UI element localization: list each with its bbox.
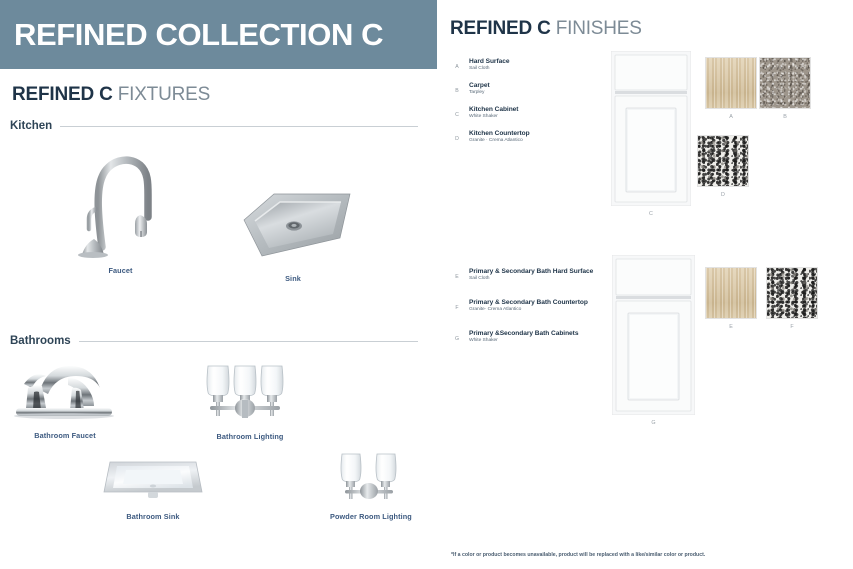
- swatch-bath-countertop: F: [766, 267, 818, 319]
- section-rule: [79, 341, 418, 342]
- fixture-caption: Bathroom Faucet: [10, 431, 120, 440]
- legend-sub: Tarpley: [469, 90, 484, 95]
- swatch-tile-wood: [705, 57, 757, 109]
- finishes-heading-bold: REFINED C: [450, 18, 551, 39]
- swatch-hard-surface: A: [705, 57, 757, 109]
- bathroom-lighting-icon: [190, 362, 310, 424]
- legend-name: Carpet: [469, 82, 490, 89]
- legend-row: D Kitchen Countertop Granite · Crema Atl…: [452, 130, 602, 148]
- powder-room-lighting-icon: [330, 452, 408, 504]
- disclaimer-note: *If a color or product becomes unavailab…: [451, 552, 705, 558]
- swatch-label: E: [705, 324, 757, 330]
- fixture-sink: Sink: [228, 186, 358, 283]
- fixtures-heading-bold: REFINED C: [12, 84, 113, 105]
- swatch-carpet: B: [759, 57, 811, 109]
- swatch-label: B: [759, 114, 811, 120]
- finishes-heading: REFINED C FINISHES: [450, 18, 642, 40]
- swatch-label: F: [766, 324, 818, 330]
- swatch-label: A: [705, 114, 757, 120]
- legend-sub: Sail Cloth: [469, 276, 489, 281]
- legend-name: Kitchen Cabinet: [469, 106, 518, 113]
- legend-name: Primary &Secondary Bath Cabinets: [469, 330, 578, 337]
- section-label-bathrooms: Bathrooms: [10, 335, 71, 347]
- fixture-bathroom-lighting: Bathroom Lighting: [190, 362, 310, 441]
- fixture-caption: Bathroom Lighting: [190, 432, 310, 441]
- legend-row: G Primary &Secondary Bath Cabinets White…: [452, 330, 617, 348]
- kitchen-faucet-icon: [78, 143, 163, 258]
- cabinet-door-icon: [612, 255, 695, 415]
- fixture-faucet: Faucet: [78, 143, 163, 275]
- swatch-tile-granite: [697, 135, 749, 187]
- collection-board: REFINED COLLECTION C REFINED C FIXTURES …: [0, 0, 853, 569]
- swatch-kitchen-cabinet: C: [611, 51, 691, 206]
- swatch-tile-carpet: [759, 57, 811, 109]
- legend-name: Hard Surface: [469, 58, 509, 65]
- legend-key: E: [452, 274, 462, 280]
- section-label-kitchen: Kitchen: [10, 120, 52, 132]
- legend-key: F: [452, 305, 462, 311]
- fixtures-heading-gray: FIXTURES: [118, 84, 210, 105]
- fixture-bathroom-sink: Bathroom Sink: [98, 452, 208, 521]
- legend-sub: Sail Cloth: [469, 66, 489, 71]
- legend-row: E Primary & Secondary Bath Hard Surface …: [452, 268, 617, 286]
- legend-row: B Carpet Tarpley: [452, 82, 602, 100]
- fixture-powder-room-lighting: Powder Room Lighting: [330, 452, 408, 521]
- legend-key: G: [452, 336, 462, 342]
- legend-row: F Primary & Secondary Bath Countertop Gr…: [452, 299, 617, 317]
- bathroom-sink-icon: [98, 452, 208, 504]
- swatch-bath-hard-surface: E: [705, 267, 757, 319]
- finishes-legend-bath: E Primary & Secondary Bath Hard Surface …: [452, 268, 617, 354]
- legend-sub: White Shaker: [469, 338, 498, 343]
- finishes-heading-gray: FINISHES: [556, 18, 642, 39]
- legend-row: A Hard Surface Sail Cloth: [452, 58, 602, 76]
- legend-sub: Granite · Crema Atlantico: [469, 138, 523, 143]
- fixture-caption: Faucet: [78, 266, 163, 275]
- swatch-label: D: [697, 192, 749, 198]
- legend-name: Primary & Secondary Bath Hard Surface: [469, 268, 593, 275]
- legend-key: C: [452, 112, 462, 118]
- cabinet-door-icon: [611, 51, 691, 206]
- fixture-bathroom-faucet: Bathroom Faucet: [10, 358, 120, 440]
- swatch-tile-granite: [766, 267, 818, 319]
- finishes-legend-kitchen: A Hard Surface Sail Cloth B Carpet Tarpl…: [452, 58, 602, 154]
- bathroom-faucet-icon: [10, 358, 120, 423]
- legend-row: C Kitchen Cabinet White Shaker: [452, 106, 602, 124]
- fixture-caption: Sink: [228, 274, 358, 283]
- swatch-label: G: [612, 420, 695, 426]
- page-title: REFINED COLLECTION C: [14, 17, 383, 53]
- kitchen-sink-icon: [228, 186, 358, 266]
- swatch-tile-wood: [705, 267, 757, 319]
- swatch-kitchen-countertop: D: [697, 135, 749, 187]
- legend-name: Kitchen Countertop: [469, 130, 530, 137]
- section-header-bathrooms: Bathrooms: [10, 335, 418, 347]
- legend-key: D: [452, 136, 462, 142]
- fixtures-heading: REFINED C FIXTURES: [12, 84, 210, 106]
- legend-name: Primary & Secondary Bath Countertop: [469, 299, 588, 306]
- legend-sub: White Shaker: [469, 114, 498, 119]
- section-rule: [60, 126, 418, 127]
- legend-key: A: [452, 64, 462, 70]
- swatch-label: C: [611, 211, 691, 217]
- legend-sub: Granite· Crema Atlantico: [469, 307, 521, 312]
- fixture-caption: Bathroom Sink: [98, 512, 208, 521]
- section-header-kitchen: Kitchen: [10, 120, 418, 132]
- legend-key: B: [452, 88, 462, 94]
- swatch-bath-cabinet: G: [612, 255, 695, 415]
- fixture-caption: Powder Room Lighting: [330, 512, 408, 521]
